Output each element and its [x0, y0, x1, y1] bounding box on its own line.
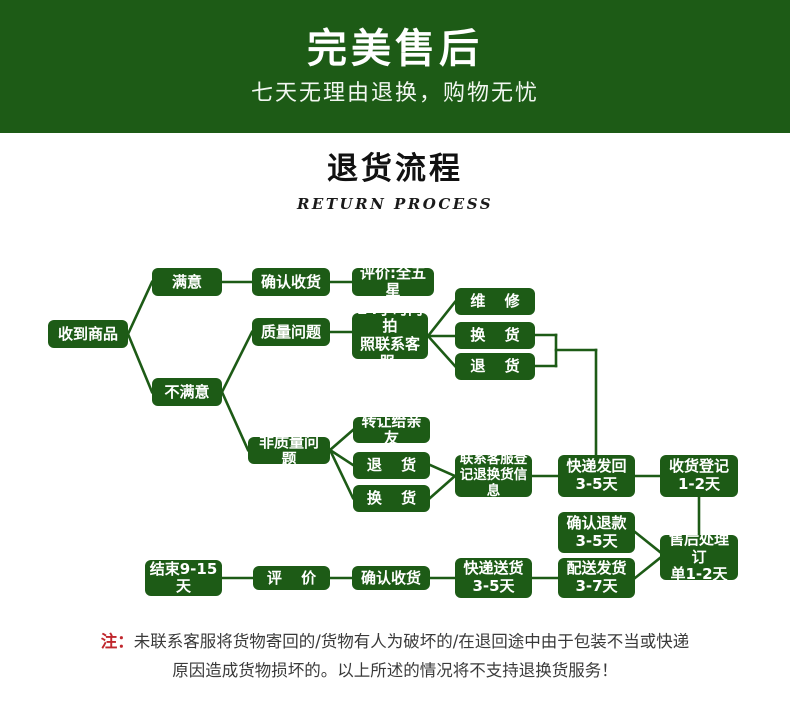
flow-node-ship-back-3-5-days[interactable]: 快递发回 3-5天 — [558, 455, 635, 497]
flow-node-label: 非质量问题 — [252, 434, 326, 468]
flow-node-label-line2: 3-5天 — [575, 476, 617, 494]
flow-node-label-line1: 确认退款 — [566, 515, 626, 533]
flow-node-quality-issue[interactable]: 质量问题 — [252, 318, 330, 346]
footer-note-text1: 未联系客服将货物寄回的/货物有人为破坏的/在退回途中由于包装不当或快递 — [134, 632, 690, 651]
flow-node-exchange-quality[interactable]: 换 货 — [455, 322, 535, 349]
flow-node-label-line2: 1-2天 — [678, 476, 720, 494]
flow-node-label: 质量问题 — [261, 324, 321, 341]
flow-node-confirm-receipt-bottom[interactable]: 确认收货 — [352, 566, 430, 590]
flow-node-satisfied[interactable]: 满意 — [152, 268, 222, 296]
flow-node-label-line1: 收货登记 — [669, 458, 729, 476]
flow-node-confirm-receipt-top[interactable]: 确认收货 — [252, 268, 330, 296]
flow-node-label-line2: 单1-2天 — [670, 566, 727, 584]
flow-node-contact-service-24h[interactable]: 24小时内拍 照联系客服. — [352, 313, 428, 359]
flow-node-label: 退 货 — [463, 358, 526, 375]
flow-node-non-quality-issue[interactable]: 非质量问题 — [248, 437, 330, 464]
flow-node-label: 评 价 — [260, 570, 323, 587]
section-title: 退货流程 — [0, 152, 790, 186]
flow-node-label: 不满意 — [164, 384, 209, 401]
flow-node-label-line1: 联系客服登 — [460, 452, 528, 468]
flow-node-return-quality[interactable]: 退 货 — [455, 353, 535, 380]
banner-title: 完美售后 — [307, 26, 483, 72]
flow-node-received-goods[interactable]: 收到商品 — [48, 320, 128, 348]
flow-node-label-line1: 24小时内拍 — [356, 301, 424, 336]
flow-node-end-9-15-days[interactable]: 结束9-15天 — [145, 560, 222, 596]
flow-node-confirm-refund-3-5-days[interactable]: 确认退款 3-5天 — [558, 512, 635, 553]
flow-node-label: 评价:全五星 — [356, 265, 430, 299]
flow-node-exchange-non-quality[interactable]: 换 货 — [353, 485, 430, 512]
footer-note-label: 注： — [101, 632, 134, 651]
flow-node-label-line2: 3-5天 — [575, 533, 617, 551]
flow-node-label: 结束9-15天 — [149, 561, 218, 595]
header-banner: 完美售后 七天无理由退换，购物无忧 — [0, 0, 790, 133]
return-process-flowchart: 收到商品 满意 确认收货 评价:全五星 不满意 质量问题 24小时内拍 照联系客… — [0, 240, 790, 620]
flow-node-register-return-info[interactable]: 联系客服登 记退换货信息 — [455, 455, 532, 497]
footer-note-line1: 注：未联系客服将货物寄回的/货物有人为破坏的/在退回途中由于包装不当或快递 — [45, 628, 745, 657]
flow-node-label: 转让给亲友 — [357, 413, 426, 447]
flow-node-label-line1: 快递送货 — [463, 560, 523, 578]
flow-node-label-line2: 3-7天 — [575, 578, 617, 596]
flow-node-label-line1: 售后处理订 — [664, 531, 734, 566]
flow-node-label: 换 货 — [463, 327, 526, 344]
flow-node-rate[interactable]: 评 价 — [253, 566, 330, 590]
flow-node-dispatch-3-7-days[interactable]: 配送发货 3-7天 — [558, 558, 635, 598]
flow-node-label-line1: 快递发回 — [566, 458, 626, 476]
flow-node-label: 确认收货 — [261, 274, 321, 291]
flow-node-label-line2: 照联系客服. — [356, 336, 424, 371]
flow-node-label-line2: 记退换货信息 — [459, 468, 528, 500]
section-subtitle: RETURN PROCESS — [0, 195, 790, 213]
banner-subtitle: 七天无理由退换，购物无忧 — [251, 82, 539, 106]
flow-node-repair[interactable]: 维 修 — [455, 288, 535, 315]
flow-node-label: 确认收货 — [361, 570, 421, 587]
flow-node-label-line1: 配送发货 — [566, 560, 626, 578]
flow-node-return-non-quality[interactable]: 退 货 — [353, 452, 430, 479]
footer-note: 注：未联系客服将货物寄回的/货物有人为破坏的/在退回途中由于包装不当或快递 原因… — [45, 628, 745, 686]
flow-node-label: 满意 — [172, 274, 202, 291]
flow-node-label-line2: 3-5天 — [472, 578, 514, 596]
page-root: 完美售后 七天无理由退换，购物无忧 退货流程 RETURN PROCESS — [0, 0, 790, 719]
flow-node-rate-five-stars[interactable]: 评价:全五星 — [352, 268, 434, 296]
flow-node-transfer-to-friend[interactable]: 转让给亲友 — [353, 417, 430, 443]
flow-node-label: 收到商品 — [58, 326, 118, 343]
flow-node-aftersale-order-1-2-days[interactable]: 售后处理订 单1-2天 — [660, 535, 738, 580]
flow-node-label: 换 货 — [360, 490, 423, 507]
flow-node-label: 退 货 — [360, 457, 423, 474]
flow-node-express-delivery-3-5-days[interactable]: 快递送货 3-5天 — [455, 558, 532, 598]
flow-node-receive-register-1-2-days[interactable]: 收货登记 1-2天 — [660, 455, 738, 497]
footer-note-line2: 原因造成货物损坏的。以上所述的情况将不支持退换货服务！ — [45, 657, 745, 686]
flow-node-unsatisfied[interactable]: 不满意 — [152, 378, 222, 406]
flow-node-label: 维 修 — [463, 293, 526, 310]
